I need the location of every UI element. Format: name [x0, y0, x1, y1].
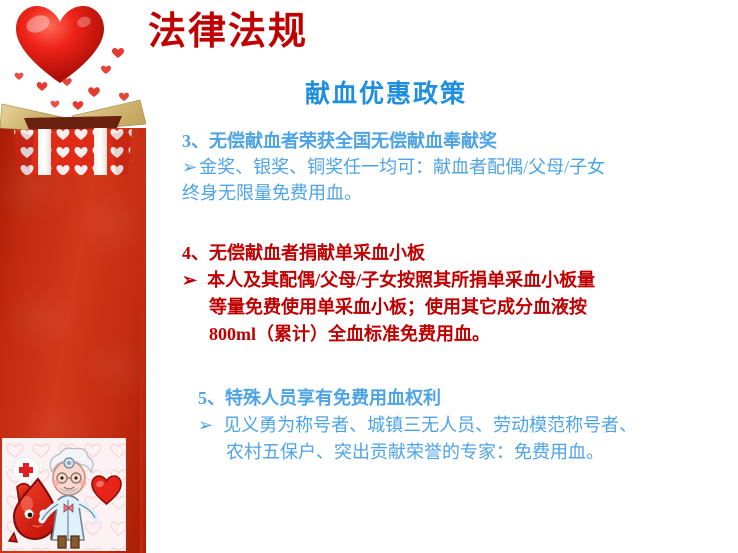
section-3-line-2-text: 终身无限量免费用血。: [182, 183, 362, 203]
section-4-line-2-text: 等量免费使用单采血小板；使用其它成分血液按: [209, 297, 587, 317]
section-3-number: 3、: [182, 131, 209, 151]
section-3-heading: 3、无偿献血者荣获全国无偿献血奉献奖: [182, 128, 605, 154]
section-4-line-2: 等量免费使用单采血小板；使用其它成分血液按: [182, 294, 595, 321]
section-4-heading: 4、无偿献血者捐献单采血小板: [182, 240, 595, 267]
section-4-line-3: 800ml（累计）全血标准免费用血。: [182, 321, 595, 348]
gift-box-illustration: [0, 0, 146, 175]
bullet-arrow-icon: ➢: [198, 412, 213, 439]
section-3-line-2: 终身无限量免费用血。: [182, 180, 605, 206]
section-3-line-1: ➢金奖、银奖、铜奖任一均可：献血者配偶/父母/子女: [182, 154, 605, 180]
section-4-line-1: ➢本人及其配偶/父母/子女按照其所捐单采血小板量: [182, 267, 595, 294]
bullet-arrow-icon: ➢: [182, 267, 197, 294]
section-4-line-3-text: 800ml（累计）全血标准免费用血。: [209, 324, 490, 344]
section-3-line-1-text: 金奖、银奖、铜奖任一均可：献血者配偶/父母/子女: [199, 157, 605, 177]
section-3-heading-text: 无偿献血者荣获全国无偿献血奉献奖: [209, 131, 497, 151]
section-4: 4、无偿献血者捐献单采血小板 ➢本人及其配偶/父母/子女按照其所捐单采血小板量 …: [182, 240, 595, 348]
section-5-heading-text: 特殊人员享有免费用血权利: [225, 388, 441, 408]
slide-canvas: 法律法规 献血优惠政策 3、无偿献血者荣获全国无偿献血奉献奖 ➢金奖、银奖、铜奖…: [0, 0, 738, 553]
section-5-line-2: 农村五保户、突出贡献荣誉的专家：免费用血。: [198, 439, 637, 466]
section-5-line-1-text: 见义勇为称号者、城镇三无人员、劳动模范称号者、: [223, 415, 637, 435]
section-4-number: 4、: [182, 243, 209, 263]
box-body: [14, 128, 132, 175]
section-5-number: 5、: [198, 388, 225, 408]
section-5: 5、特殊人员享有免费用血权利 ➢见义勇为称号者、城镇三无人员、劳动模范称号者、 …: [198, 385, 637, 466]
section-4-heading-text: 无偿献血者捐献单采血小板: [209, 243, 425, 263]
left-panel-edge: [140, 128, 146, 553]
section-5-line-1: ➢见义勇为称号者、城镇三无人员、劳动模范称号者、: [198, 412, 637, 439]
doctor-illustration: [2, 438, 126, 551]
red-cross-icon: [13, 457, 39, 483]
section-3: 3、无偿献血者荣获全国无偿献血奉献奖 ➢金奖、银奖、铜奖任一均可：献血者配偶/父…: [182, 128, 605, 206]
page-subtitle: 献血优惠政策: [305, 74, 467, 110]
large-heart-icon: [16, 6, 104, 83]
box-interior-shadow: [24, 116, 122, 130]
section-5-heading: 5、特殊人员享有免费用血权利: [198, 385, 637, 412]
section-5-line-2-text: 农村五保户、突出贡献荣誉的专家：免费用血。: [226, 442, 604, 462]
section-4-line-1-text: 本人及其配偶/父母/子女按照其所捐单采血小板量: [207, 270, 595, 290]
bullet-arrow-icon: ➢: [182, 154, 197, 180]
page-title: 法律法规: [148, 10, 308, 56]
